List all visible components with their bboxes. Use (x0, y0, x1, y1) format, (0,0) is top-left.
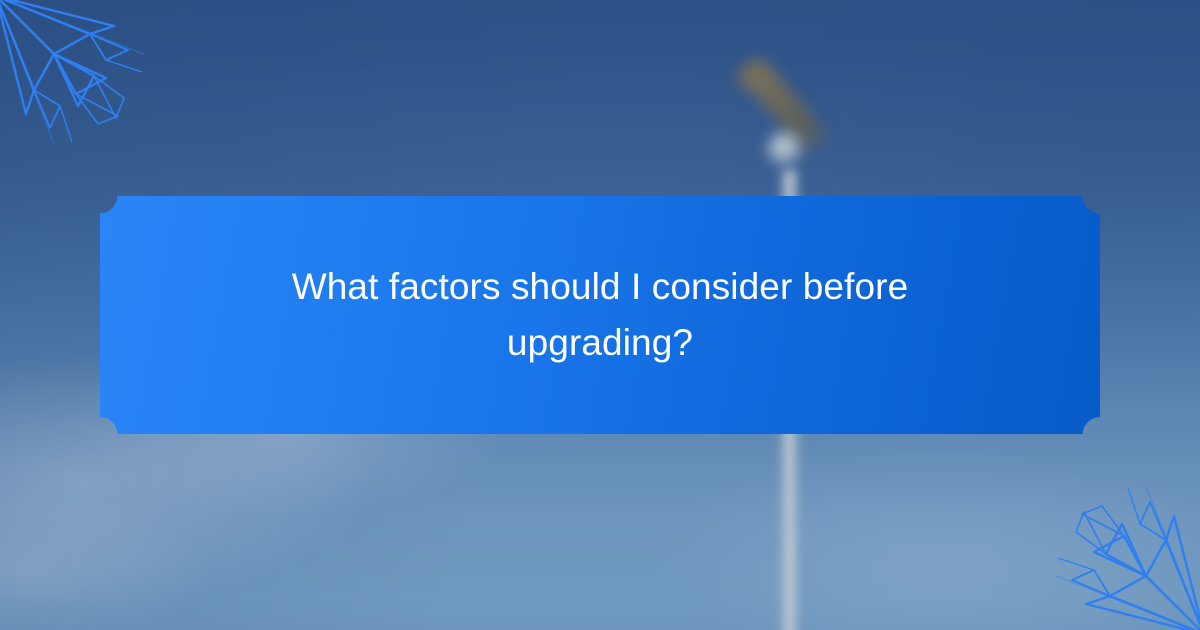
question-card-content: What factors should I consider before up… (100, 196, 1100, 434)
lamp-arm-knob (767, 132, 803, 166)
question-card: What factors should I consider before up… (100, 196, 1100, 434)
question-text: What factors should I consider before up… (270, 259, 930, 371)
street-lamp-arm (735, 58, 841, 162)
screenshot-stage: What factors should I consider before up… (0, 0, 1200, 630)
